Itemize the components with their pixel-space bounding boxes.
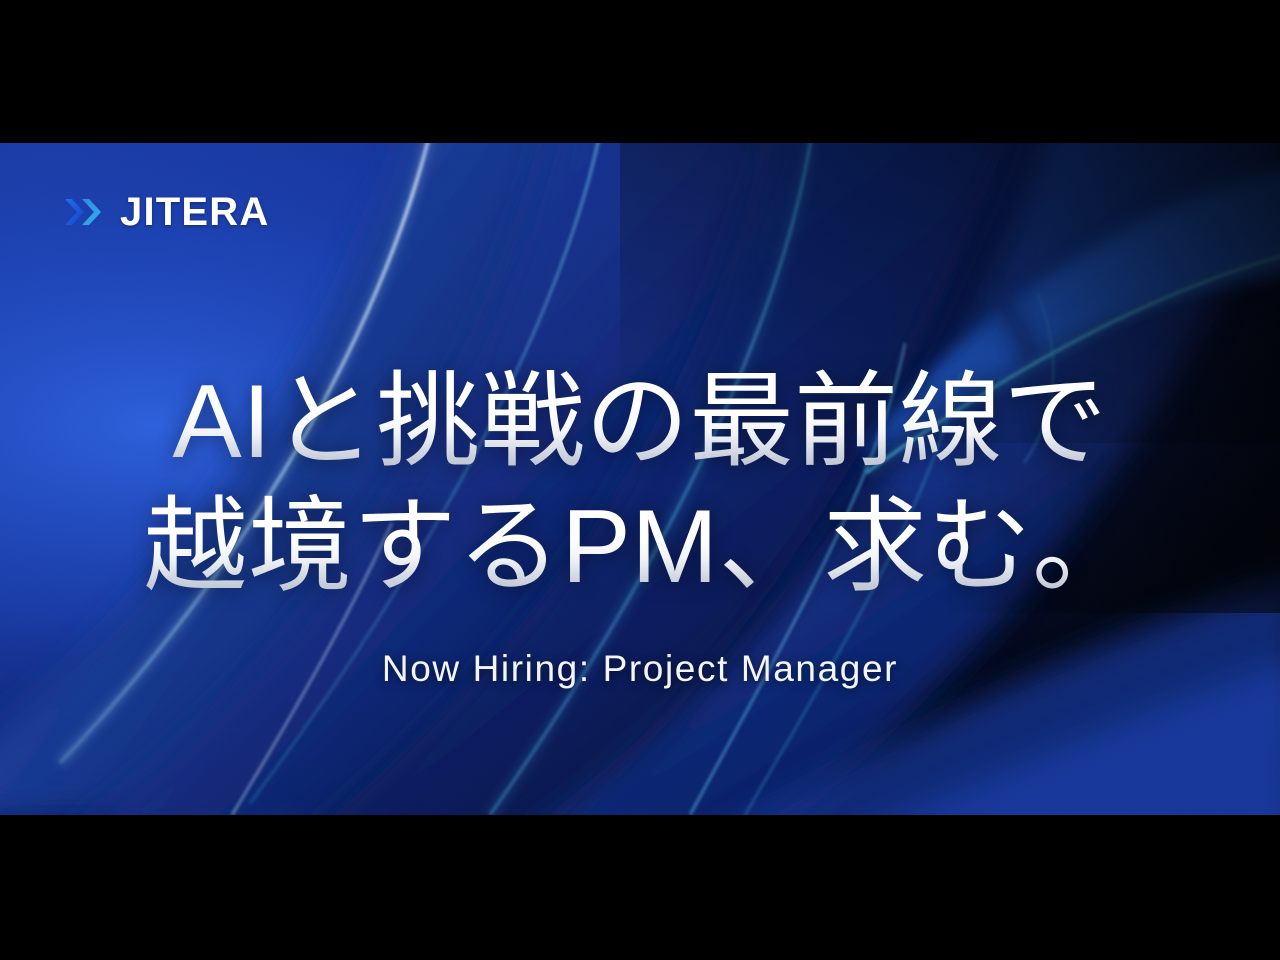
abstract-ribbon-background (0, 143, 1280, 815)
jitera-logo[interactable]: JITERA (64, 188, 269, 236)
letterbox-bar-top (0, 0, 1280, 143)
banner-canvas: JITERA AIと挑戦の最前線で 越境するPM、求む。 Now Hiring:… (0, 0, 1280, 960)
double-chevron-icon (64, 196, 108, 228)
logo-wordmark: JITERA (120, 192, 269, 232)
letterbox-bar-bottom (0, 815, 1280, 960)
hero-banner (0, 143, 1280, 815)
